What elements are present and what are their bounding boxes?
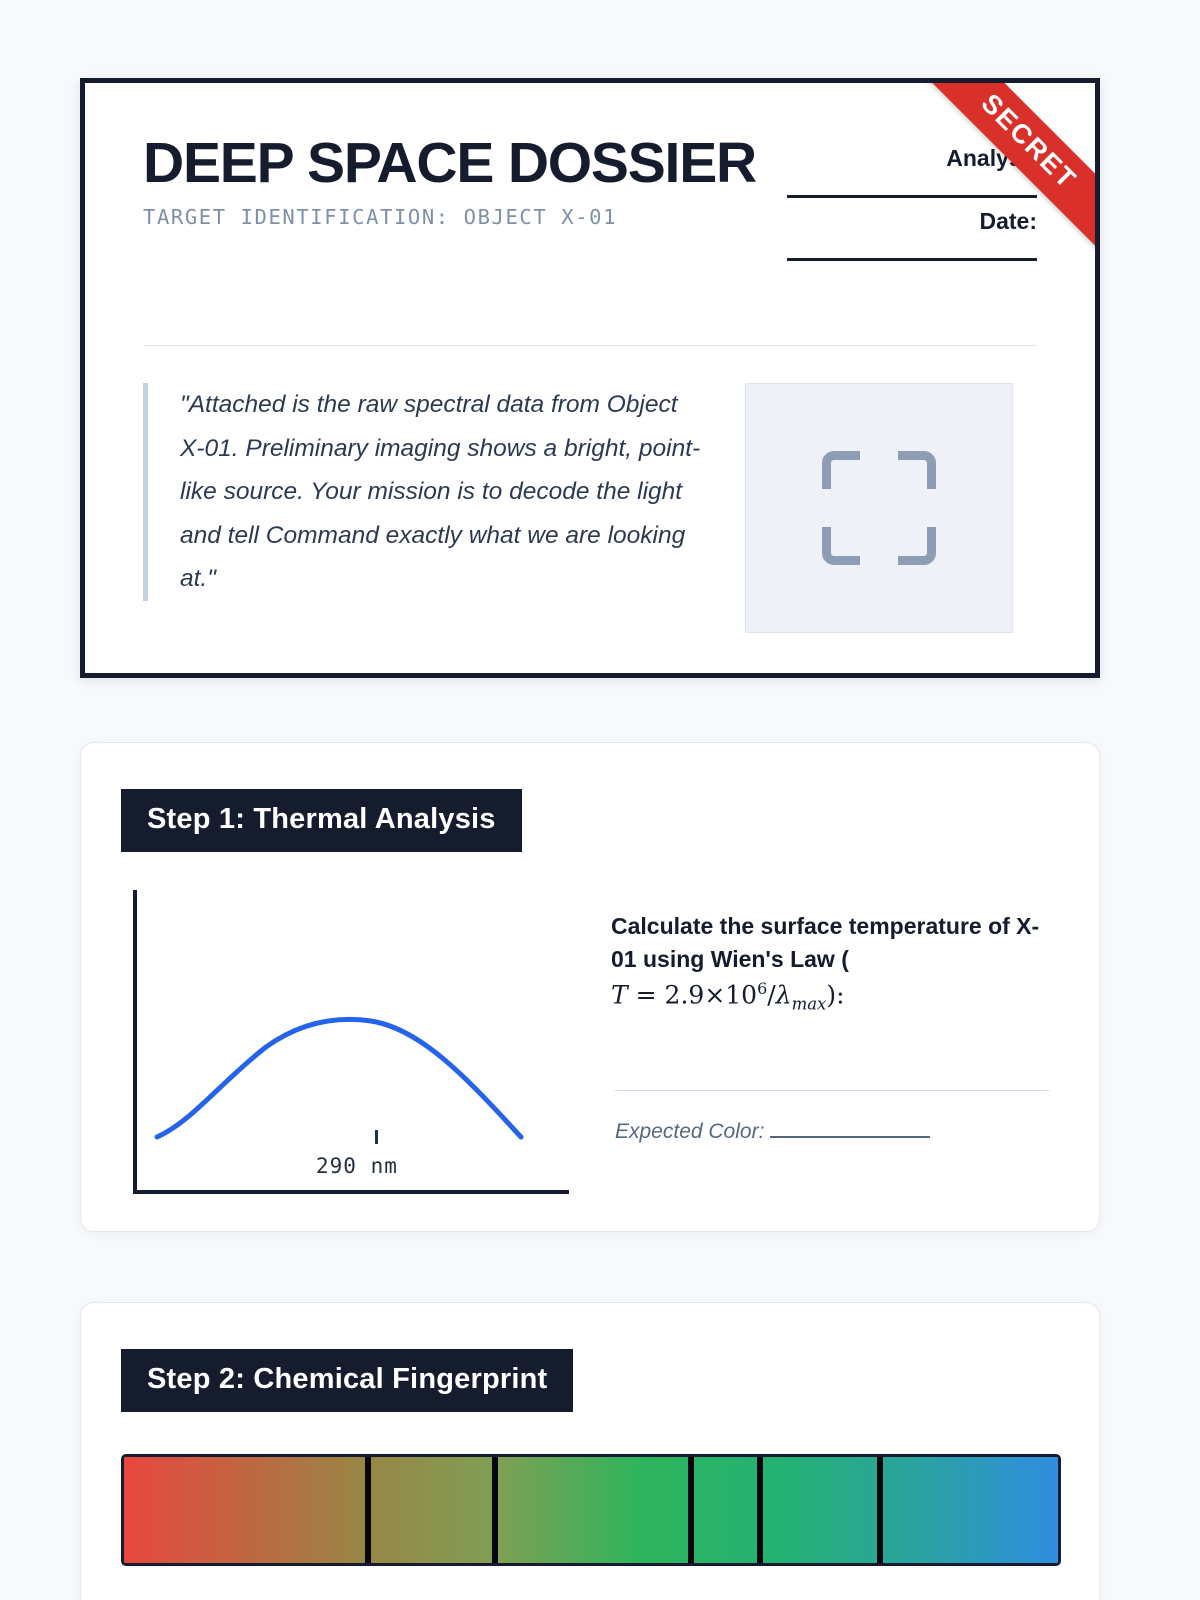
absorption-spectrum-bar <box>121 1454 1061 1566</box>
formula-lambda-subscript: max <box>792 994 827 1013</box>
formula-exponent: 6 <box>757 979 767 998</box>
step-1-card: Step 1: Thermal Analysis 290 nm Calculat… <box>80 742 1100 1232</box>
answer-write-in-rule[interactable] <box>615 1090 1049 1091</box>
analyst-field[interactable]: Analyst: <box>707 145 1037 198</box>
spectrum-gradient <box>124 1457 1058 1563</box>
peak-wavelength-label: 290 nm <box>316 1154 398 1178</box>
wien-law-instruction-text: Calculate the surface temperature of X-0… <box>611 913 1039 972</box>
title-block: DEEP SPACE DOSSIER TARGET IDENTIFICATION… <box>143 135 763 229</box>
scan-corner-bottom-right <box>898 527 936 565</box>
document-meta-block: Analyst: Date: <box>707 145 1037 271</box>
step-1-badge: Step 1: Thermal Analysis <box>121 789 522 852</box>
formula-coefficient: 2.9 <box>665 980 705 1009</box>
mission-brief-quote: "Attached is the raw spectral data from … <box>143 383 703 601</box>
blackbody-curve-line <box>157 1019 521 1137</box>
expected-color-blank[interactable] <box>770 1123 930 1138</box>
step-2-body <box>81 1412 1099 1566</box>
peak-wavelength-tick <box>375 1130 378 1144</box>
date-field[interactable]: Date: <box>707 208 1037 261</box>
date-write-in-line[interactable] <box>787 237 1037 261</box>
specimen-image-placeholder <box>745 383 1013 633</box>
scan-frame-icon <box>822 451 936 565</box>
target-identification-subtitle: TARGET IDENTIFICATION: OBJECT X-01 <box>143 205 763 229</box>
formula-times: × <box>704 980 725 1009</box>
scan-corner-top-right <box>898 451 936 489</box>
formula-divide: / <box>767 980 775 1009</box>
scan-corner-bottom-left <box>822 527 860 565</box>
header-inner: DEEP SPACE DOSSIER TARGET IDENTIFICATION… <box>85 83 1095 673</box>
dossier-header-card: SECRET DEEP SPACE DOSSIER TARGET IDENTIF… <box>80 78 1100 678</box>
analyst-write-in-line[interactable] <box>787 174 1037 198</box>
step-1-body: 290 nm Calculate the surface temperature… <box>81 852 1099 1212</box>
expected-color-label: Expected Color: <box>615 1120 764 1143</box>
formula-variable: T <box>611 980 628 1009</box>
header-divider <box>143 345 1037 346</box>
formula-lambda: λ <box>776 980 792 1009</box>
formula-base: 10 <box>725 980 757 1009</box>
expected-color-field[interactable]: Expected Color: <box>615 1120 930 1144</box>
wien-law-instruction: Calculate the surface temperature of X-0… <box>611 910 1059 1016</box>
page-title: DEEP SPACE DOSSIER <box>143 135 763 191</box>
formula-close-paren: ): <box>826 980 844 1009</box>
step-1-task-column: Calculate the surface temperature of X-0… <box>611 882 1059 1212</box>
absorption-line-1 <box>365 1457 371 1563</box>
absorption-line-4 <box>757 1457 763 1563</box>
blackbody-curve-chart: 290 nm <box>121 882 581 1212</box>
absorption-line-5 <box>877 1457 883 1563</box>
analyst-label: Analyst: <box>707 145 1037 172</box>
step-2-card: Step 2: Chemical Fingerprint <box>80 1302 1100 1600</box>
formula-equals: = <box>636 980 657 1009</box>
step-2-badge: Step 2: Chemical Fingerprint <box>121 1349 573 1412</box>
mission-brief-row: "Attached is the raw spectral data from … <box>143 383 1037 633</box>
absorption-line-3 <box>688 1457 694 1563</box>
wien-law-formula: T = 2.9×106/λmax): <box>611 977 1059 1016</box>
scan-corner-top-left <box>822 451 860 489</box>
date-label: Date: <box>707 208 1037 235</box>
dossier-page: SECRET DEEP SPACE DOSSIER TARGET IDENTIF… <box>0 0 1200 1600</box>
absorption-line-2 <box>492 1457 498 1563</box>
